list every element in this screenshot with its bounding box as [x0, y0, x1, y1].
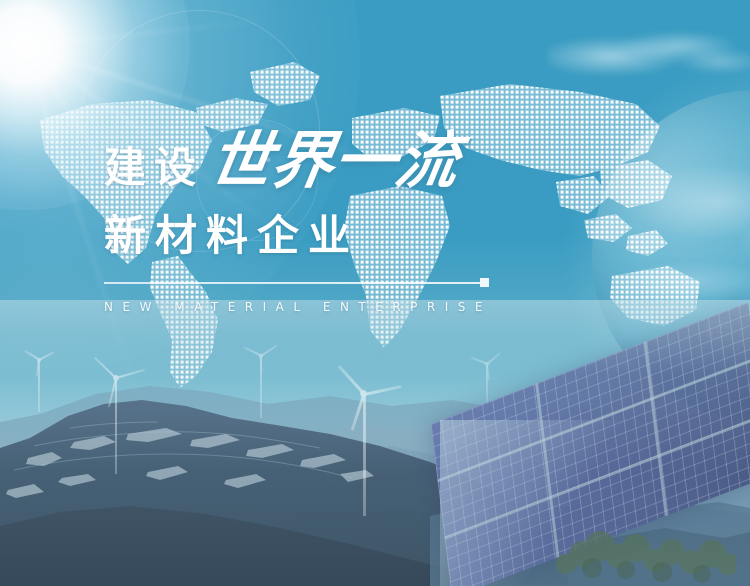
turbine-blade	[338, 365, 365, 395]
foreground-shrubs	[556, 506, 736, 586]
turbine-blade	[487, 352, 501, 364]
turbine-mast	[115, 378, 117, 474]
turbine-blade	[94, 356, 117, 378]
turbine-blade	[24, 350, 39, 360]
wind-turbine	[326, 366, 402, 516]
headline-subtitle: NEW MATERIAL ENTERPRISE	[104, 300, 664, 314]
solar-col-gap	[644, 341, 668, 516]
title-build: 建设	[104, 147, 204, 189]
turbine-blade	[260, 356, 262, 375]
turbine-blade	[364, 385, 402, 395]
headline-divider	[104, 282, 480, 284]
turbine-mast	[363, 394, 366, 516]
hero-banner: 建设 世界一流 新材料企业 NEW MATERIAL ENTERPRISE	[0, 0, 750, 586]
wind-turbine	[242, 342, 280, 418]
turbine-blade	[471, 357, 487, 364]
turbine-blade	[39, 351, 55, 360]
turbine-blade	[261, 345, 278, 357]
title-world-class: 世界一流	[205, 130, 463, 192]
wind-turbine	[22, 348, 56, 412]
divider-end-cap	[480, 278, 489, 287]
headline-line-1: 建设 世界一流	[104, 130, 664, 202]
headline-block: 建设 世界一流 新材料企业 NEW MATERIAL ENTERPRISE	[104, 130, 664, 314]
wind-turbine	[86, 358, 146, 474]
turbine-blade	[116, 369, 145, 379]
title-new-material: 新材料企业	[104, 212, 664, 260]
turbine-blade	[244, 347, 262, 357]
